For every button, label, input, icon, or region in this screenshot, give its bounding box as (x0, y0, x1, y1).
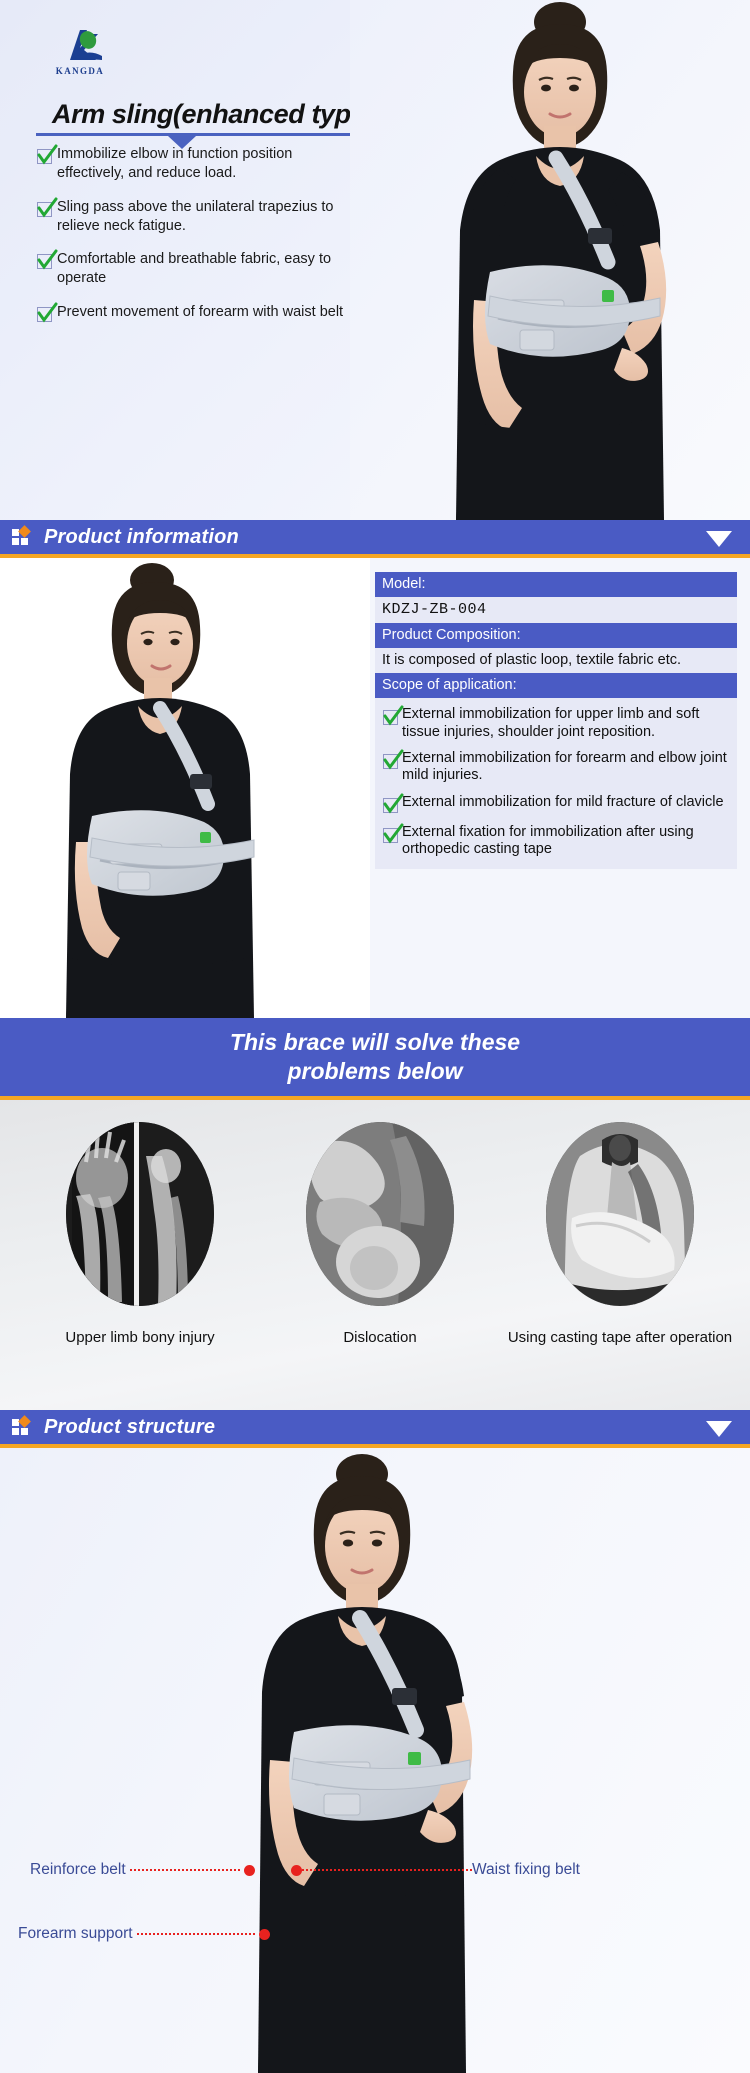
callout-label: Waist fixing belt (472, 1861, 580, 1879)
list-item: External immobilization for upper limb a… (382, 706, 731, 741)
section-heading: Product structure (44, 1416, 215, 1439)
check-icon (36, 251, 56, 271)
callout-dot (291, 1865, 302, 1876)
list-item: External immobilization for mild fractur… (382, 794, 731, 815)
table-value-model: KDZJ-ZB-004 (375, 597, 737, 623)
list-item: Prevent movement of forearm with waist b… (36, 303, 356, 324)
xray-upper-limb-image (66, 1122, 214, 1306)
scope-list: External immobilization for upper limb a… (375, 698, 737, 868)
list-item: External fixation for immobilization aft… (382, 824, 731, 859)
kangda-logo-icon (40, 24, 120, 64)
xray-dislocation-image (306, 1122, 454, 1306)
product-structure-header[interactable]: Product structure (0, 1410, 750, 1448)
list-item: Comfortable and breathable fabric, easy … (36, 250, 356, 288)
grid-diamond-icon (12, 527, 32, 547)
callout-dot (244, 1865, 255, 1876)
problem-item: Upper limb bony injury (15, 1100, 265, 1410)
check-icon (36, 304, 56, 324)
table-header-model: Model: (375, 572, 737, 597)
problem-caption: Dislocation (255, 1328, 505, 1348)
product-structure-photo (150, 1448, 600, 2073)
list-item: External immobilization for forearm and … (382, 750, 731, 785)
callout-label: Reinforce belt (30, 1861, 126, 1879)
callout-line (130, 1869, 240, 1871)
callout-waist-fixing-belt: Waist fixing belt (291, 1861, 580, 1879)
problem-item: Using casting tape after operation (495, 1100, 745, 1410)
problem-caption: Upper limb bony injury (15, 1328, 265, 1348)
list-item-label: External immobilization for forearm and … (402, 750, 731, 785)
product-information-section: Model: KDZJ-ZB-004 Product Composition: … (0, 558, 750, 1018)
table-value-composition: It is composed of plastic loop, textile … (375, 648, 737, 673)
check-icon (36, 199, 56, 219)
check-icon (382, 825, 402, 845)
check-icon (36, 146, 56, 166)
callout-forearm-support: Forearm support (18, 1925, 270, 1943)
callout-dot (259, 1929, 270, 1940)
product-info-table: Model: KDZJ-ZB-004 Product Composition: … (375, 572, 737, 869)
problem-caption: Using casting tape after operation (495, 1328, 745, 1348)
problem-item: Dislocation (255, 1100, 505, 1410)
problems-banner: This brace will solve these problems bel… (0, 1018, 750, 1100)
product-photo-side-view (0, 558, 370, 1018)
problems-section: Upper limb bony injury Dislocation (0, 1100, 750, 1410)
problems-banner-line1: This brace will solve these (230, 1028, 520, 1057)
brand-name: KANGDA (40, 66, 120, 76)
casting-tape-photo (546, 1122, 694, 1306)
brand-logo: KANGDA (40, 24, 120, 76)
product-information-header[interactable]: Product information (0, 520, 750, 558)
list-item-label: External immobilization for mild fractur… (402, 794, 724, 811)
callout-reinforce-belt: Reinforce belt (30, 1861, 255, 1879)
check-icon (382, 707, 402, 727)
hero-product-photo (350, 0, 750, 520)
list-item-label: Comfortable and breathable fabric, easy … (56, 250, 356, 288)
list-item-label: External fixation for immobilization aft… (402, 824, 731, 859)
callout-line (302, 1869, 472, 1871)
section-heading: Product information (44, 526, 239, 549)
check-icon (382, 751, 402, 771)
page-title: Arm sling(enhanced type) (52, 99, 374, 130)
check-icon (382, 795, 402, 815)
hero-feature-list: Immobilize elbow in function position ef… (36, 145, 356, 339)
table-header-scope: Scope of application: (375, 673, 737, 698)
callout-line (137, 1933, 255, 1935)
callout-label: Forearm support (18, 1925, 133, 1943)
list-item-label: Immobilize elbow in function position ef… (56, 145, 356, 183)
list-item: Sling pass above the unilateral trapeziu… (36, 198, 356, 236)
product-structure-section: shoulder sling Waist fixing belt Reinfor… (0, 1448, 750, 2073)
list-item-label: Prevent movement of forearm with waist b… (56, 303, 343, 322)
hero-section: KANGDA Arm sling(enhanced type) Immobili… (0, 0, 750, 520)
chevron-down-triangle-icon[interactable] (706, 531, 732, 547)
chevron-down-triangle-icon[interactable] (706, 1421, 732, 1437)
grid-diamond-icon (12, 1417, 32, 1437)
list-item-label: Sling pass above the unilateral trapeziu… (56, 198, 356, 236)
table-header-composition: Product Composition: (375, 623, 737, 648)
list-item-label: External immobilization for upper limb a… (402, 706, 731, 741)
problems-banner-line2: problems below (287, 1057, 462, 1086)
list-item: Immobilize elbow in function position ef… (36, 145, 356, 183)
